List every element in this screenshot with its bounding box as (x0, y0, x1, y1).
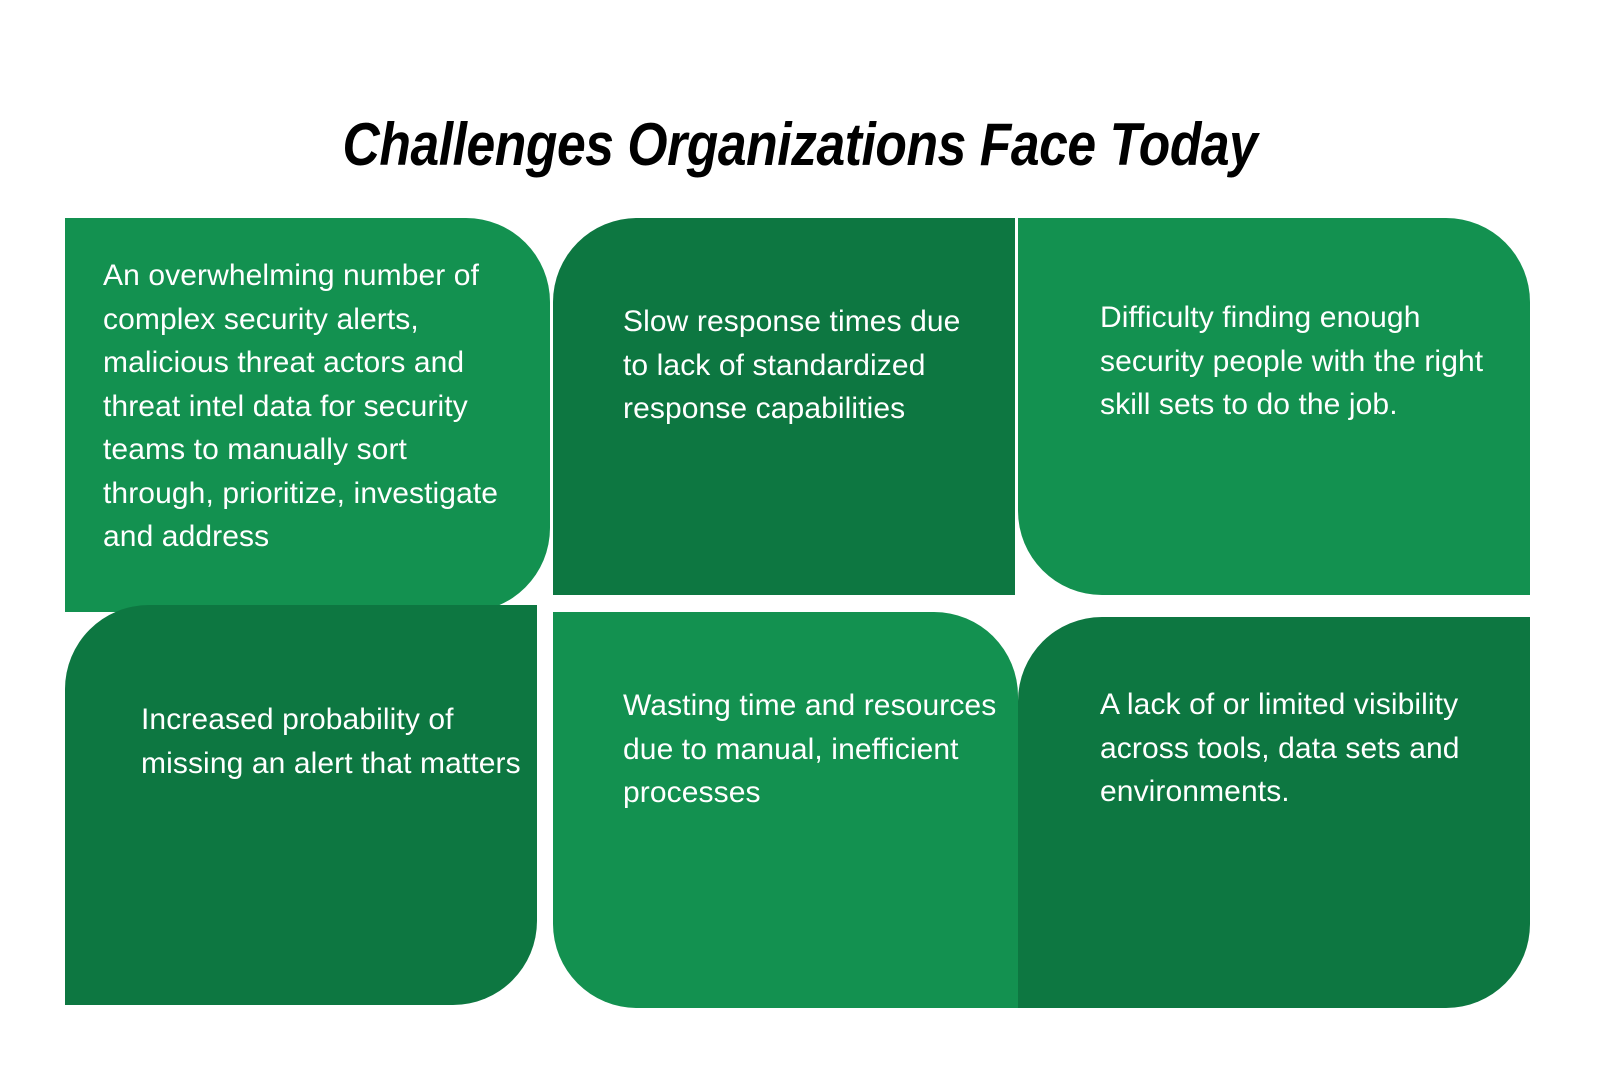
challenge-card-text: An overwhelming number of complex securi… (103, 254, 523, 559)
challenge-card-text: Slow response times due to lack of stand… (623, 300, 993, 431)
challenge-card-slow-response: Slow response times due to lack of stand… (553, 218, 1015, 595)
challenge-card-skills-shortage: Difficulty finding enough security peopl… (1018, 218, 1530, 595)
challenge-card-text: Difficulty finding enough security peopl… (1100, 296, 1500, 427)
challenge-card-missed-alerts: Increased probability of missing an aler… (65, 605, 537, 1005)
challenge-card-text: Wasting time and resources due to manual… (623, 684, 1003, 815)
challenge-card-text: Increased probability of missing an aler… (141, 698, 521, 785)
challenges-card-grid: An overwhelming number of complex securi… (0, 0, 1600, 1088)
challenge-card-text: A lack of or limited visibility across t… (1100, 683, 1500, 814)
challenge-card-limited-visibility: A lack of or limited visibility across t… (1018, 617, 1530, 1008)
challenge-card-overwhelming-alerts: An overwhelming number of complex securi… (65, 218, 550, 612)
challenge-card-wasted-resources: Wasting time and resources due to manual… (553, 612, 1018, 1008)
